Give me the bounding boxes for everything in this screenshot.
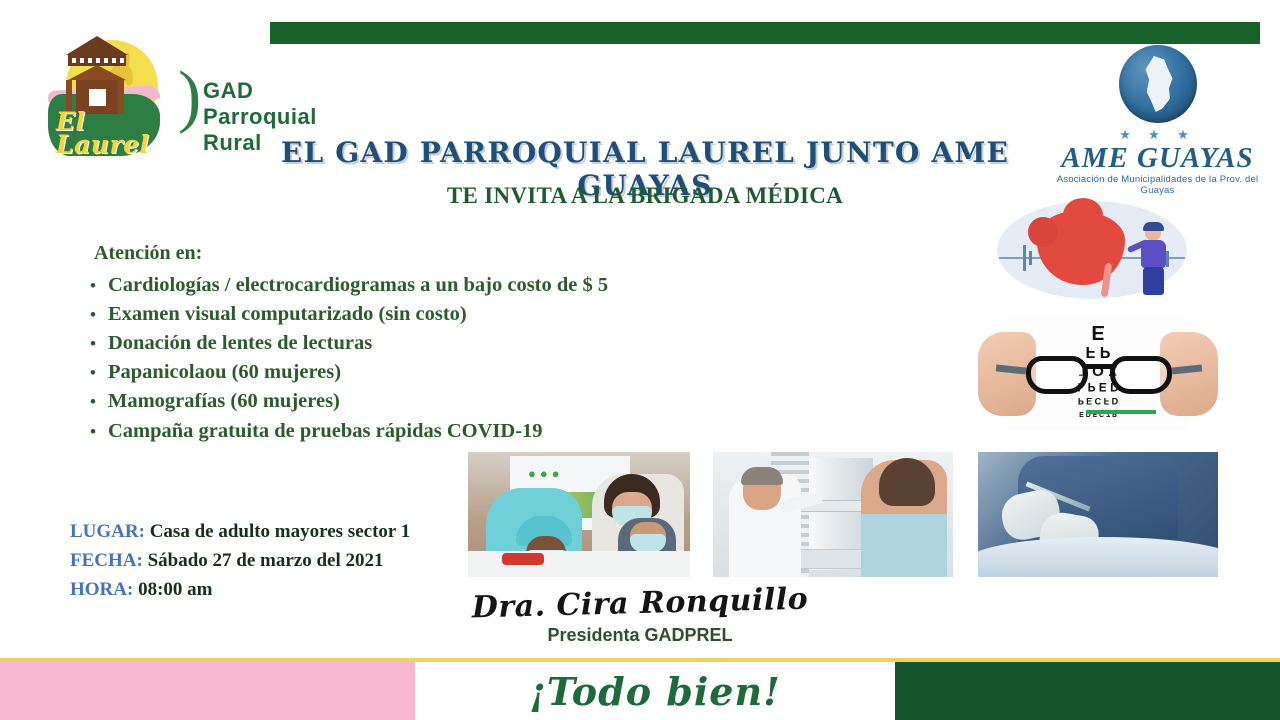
cardiology-illustration <box>985 195 1200 305</box>
eyeglasses-icon <box>1026 356 1172 396</box>
footer-band: ¡Todo bien! <box>0 658 1280 720</box>
detail-row: LUGAR: Casa de adulto mayores sector 1 <box>70 518 410 547</box>
detail-value: Casa de adulto mayores sector 1 <box>145 521 410 542</box>
bullet-icon: • <box>78 361 108 385</box>
bullet-icon: • <box>78 274 108 298</box>
ame-title: AME GUAYAS <box>1040 143 1275 173</box>
covid-testing-photo: ●●● <box>468 452 690 577</box>
detail-row: FECHA: Sábado 27 de marzo del 2021 <box>70 547 410 576</box>
services-section: Atención en: •Cardiologías / electrocard… <box>78 242 778 446</box>
service-item: •Campaña gratuita de pruebas rápidas COV… <box>78 417 778 446</box>
service-item: •Papanicolaou (60 mujeres) <box>78 358 778 387</box>
kiosk-icon <box>64 36 130 114</box>
footer-slogan: ¡Todo bien! <box>415 662 895 720</box>
poster-subheadline: TE INVITA A LA BRIGADA MÉDICA <box>255 183 1035 209</box>
logo-divider-paren: ) <box>178 62 201 132</box>
laurel-script-text: El Laurel <box>56 107 150 159</box>
bullet-icon: • <box>78 303 108 327</box>
gad-laurel-logo: El Laurel ) GAD Parroquial Rural <box>38 22 288 162</box>
service-item: •Cardiologías / electrocardiogramas a un… <box>78 271 778 300</box>
service-item: •Examen visual computarizado (sin costo) <box>78 300 778 329</box>
service-item: •Mamografías (60 mujeres) <box>78 387 778 416</box>
guayas-map-icon <box>1143 56 1173 112</box>
detail-label: HORA: <box>70 579 133 600</box>
vision-exam-photo: E F P T O Z L P E D P E C F D E D F C Z … <box>978 312 1218 434</box>
signature-role: Presidenta GADPREL <box>430 625 850 646</box>
service-item: •Donación de lentes de lecturas <box>78 329 778 358</box>
bullet-icon: • <box>78 420 108 444</box>
service-item-label: Campaña gratuita de pruebas rápidas COVI… <box>108 417 778 446</box>
footer-pink-block <box>0 662 415 720</box>
services-list: •Cardiologías / electrocardiogramas a un… <box>78 271 778 446</box>
org-line-1: GAD <box>203 78 317 104</box>
detail-label: FECHA: <box>70 550 143 571</box>
mammography-photo <box>713 452 953 577</box>
signature-block: Dra. Cira Ronquillo Presidenta GADPREL <box>430 586 850 646</box>
papanicolaou-photo <box>978 452 1218 577</box>
detail-row: HORA: 08:00 am <box>70 576 410 605</box>
service-item-label: Papanicolaou (60 mujeres) <box>108 358 778 387</box>
service-item-label: Examen visual computarizado (sin costo) <box>108 300 778 329</box>
signature-name: Dra. Cira Ronquillo <box>430 581 851 627</box>
bullet-icon: • <box>78 332 108 356</box>
ame-guayas-logo: ★ ★ ★ AME GUAYAS Asociación de Municipal… <box>1040 45 1275 180</box>
laurel-script-name: El Laurel <box>56 110 168 156</box>
detail-label: LUGAR: <box>70 521 145 542</box>
ame-stars: ★ ★ ★ <box>1040 127 1275 143</box>
poster-canvas: El Laurel ) GAD Parroquial Rural ★ ★ ★ A… <box>0 0 1280 720</box>
laurel-badge-graphic: El Laurel <box>38 22 168 162</box>
ame-subtitle: Asociación de Municipalidades de la Prov… <box>1040 174 1275 196</box>
service-item-label: Cardiologías / electrocardiogramas a un … <box>108 271 778 300</box>
detail-value: 08:00 am <box>133 579 212 600</box>
ame-globe-icon <box>1119 45 1197 123</box>
detail-value: Sábado 27 de marzo del 2021 <box>143 550 384 571</box>
header-green-bar <box>270 22 1260 44</box>
org-line-2: Parroquial <box>203 104 317 130</box>
doctor-figure-icon <box>1133 225 1175 297</box>
service-item-label: Donación de lentes de lecturas <box>108 329 778 358</box>
footer-green-block <box>895 662 1280 720</box>
service-item-label: Mamografías (60 mujeres) <box>108 387 778 416</box>
bullet-icon: • <box>78 390 108 414</box>
event-details: LUGAR: Casa de adulto mayores sector 1FE… <box>70 518 410 605</box>
services-heading: Atención en: <box>94 242 778 265</box>
